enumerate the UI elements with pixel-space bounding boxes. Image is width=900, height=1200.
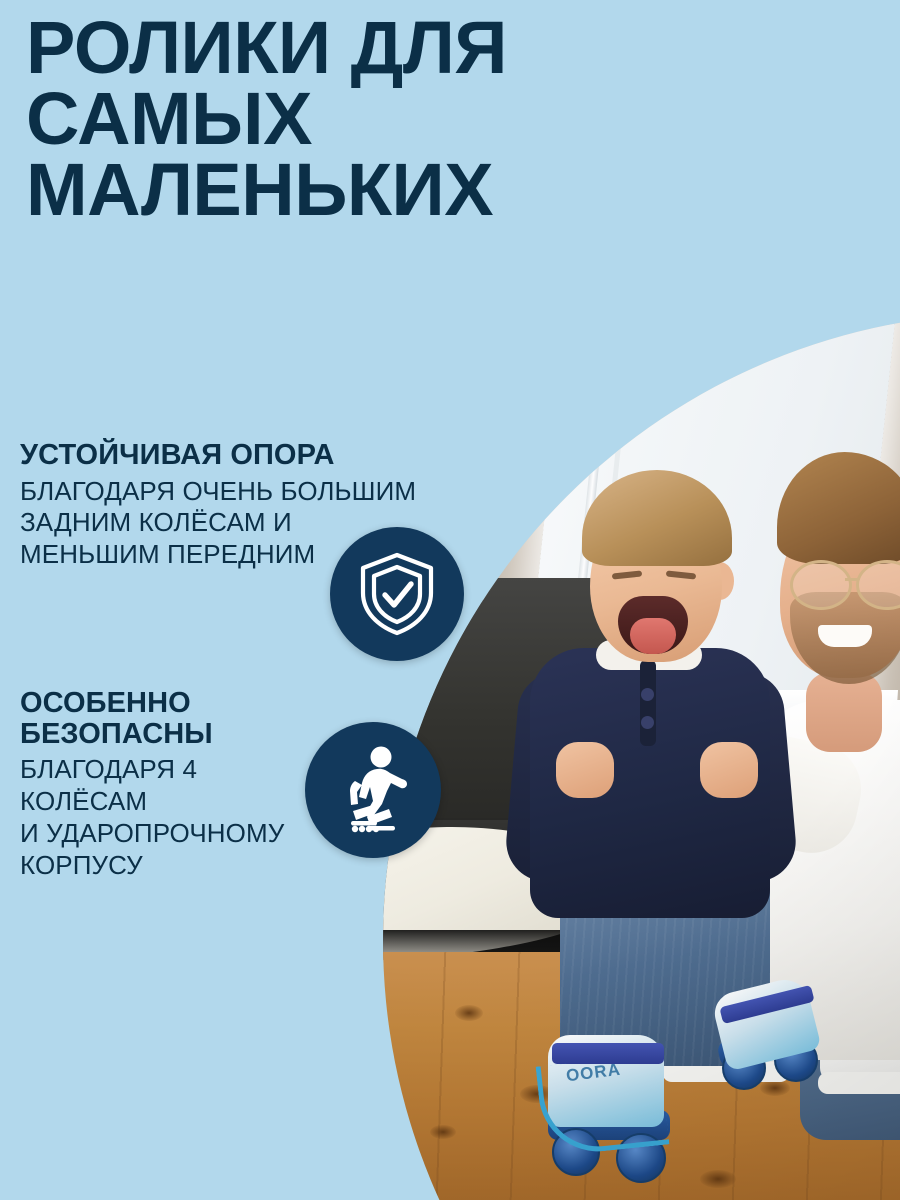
adult-sneaker-sole: [818, 1072, 900, 1094]
adult-smile: [818, 625, 872, 647]
feature-title: УСТОЙЧИВАЯ ОПОРА: [20, 440, 440, 471]
floor-knot: [430, 1125, 456, 1139]
adult-neck: [806, 672, 882, 752]
child-hand: [700, 742, 758, 798]
child-hand: [556, 742, 614, 798]
hero-photo: OORA: [383, 313, 900, 1200]
shield-check-icon: [356, 550, 438, 638]
page-title: РОЛИКИ ДЛЯ САМЫХ МАЛЕНЬКИХ: [26, 12, 666, 225]
product-poster: OORA РОЛИКИ ДЛЯ САМЫХ МАЛЕНЬКИХ УСТОЙЧИВ…: [0, 0, 900, 1200]
child-placket: [640, 660, 656, 746]
inline-skater-badge: [305, 722, 441, 858]
floor-knot: [700, 1170, 736, 1188]
floor-knot: [760, 1080, 790, 1096]
inline-skater-icon: [331, 745, 415, 835]
child-button: [641, 716, 654, 729]
adult-glasses-bridge: [845, 578, 859, 581]
shield-check-badge: [330, 527, 464, 661]
floor-knot: [455, 1005, 483, 1021]
child-tongue: [630, 618, 676, 654]
adult-glasses: [790, 560, 852, 610]
photo-scene: OORA: [383, 313, 900, 1200]
child-button: [641, 688, 654, 701]
